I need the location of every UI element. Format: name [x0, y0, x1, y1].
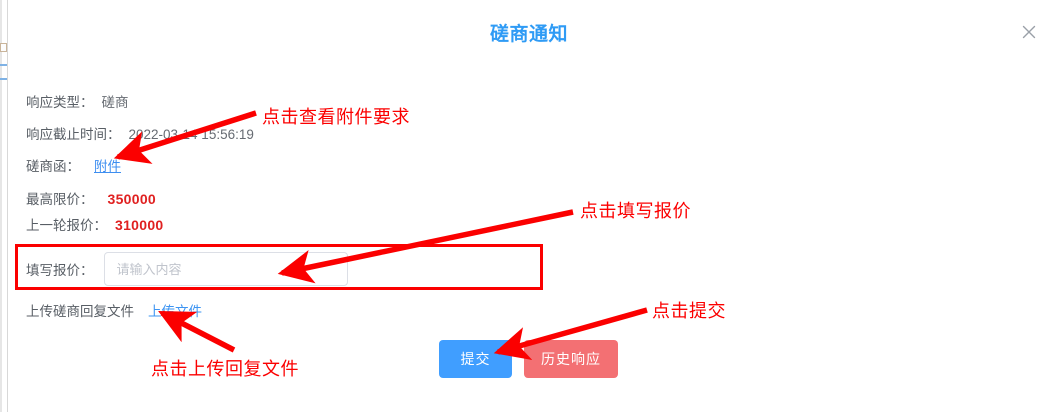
quote-label: 填写报价： [26, 259, 94, 279]
form-area: 响应类型：磋商 响应截止时间：2022-03-14 15:56:19 磋商函：附… [0, 0, 1058, 412]
negotiation-notice-dialog: 磋商通知 响应类型：磋商 响应截止时间：2022-03-14 15:56:19 … [0, 0, 1058, 412]
last-round-price-value: 310000 [115, 217, 164, 233]
quote-input[interactable] [104, 252, 348, 286]
deadline-label: 响应截止时间： [26, 127, 121, 142]
response-type-value: 磋商 [102, 95, 129, 110]
field-last-round-price: 上一轮报价：310000 [26, 216, 164, 235]
field-quote: 填写报价： [26, 252, 348, 286]
negotiation-letter-label: 磋商函： [26, 159, 80, 174]
upload-file-link[interactable]: 上传文件 [148, 304, 202, 319]
field-max-price: 最高限价：350000 [26, 190, 156, 209]
field-negotiation-letter: 磋商函：附件 [26, 158, 121, 176]
response-type-label: 响应类型： [26, 95, 94, 110]
history-response-button[interactable]: 历史响应 [524, 340, 618, 378]
max-price-value: 350000 [108, 191, 157, 207]
annotation-upload: 点击上传回复文件 [151, 355, 299, 381]
max-price-label: 最高限价： [26, 192, 94, 207]
field-response-type: 响应类型：磋商 [26, 94, 129, 112]
field-deadline: 响应截止时间：2022-03-14 15:56:19 [26, 126, 254, 144]
submit-button[interactable]: 提交 [439, 340, 512, 378]
annotation-attachment: 点击查看附件要求 [262, 103, 410, 129]
field-upload-reply-file: 上传磋商回复文件上传文件 [26, 303, 202, 321]
last-round-price-label: 上一轮报价： [26, 218, 107, 233]
upload-label: 上传磋商回复文件 [26, 304, 134, 319]
attachment-link[interactable]: 附件 [94, 159, 121, 174]
deadline-value: 2022-03-14 15:56:19 [129, 127, 254, 142]
annotation-submit: 点击提交 [652, 297, 726, 323]
annotation-quote: 点击填写报价 [580, 197, 691, 223]
